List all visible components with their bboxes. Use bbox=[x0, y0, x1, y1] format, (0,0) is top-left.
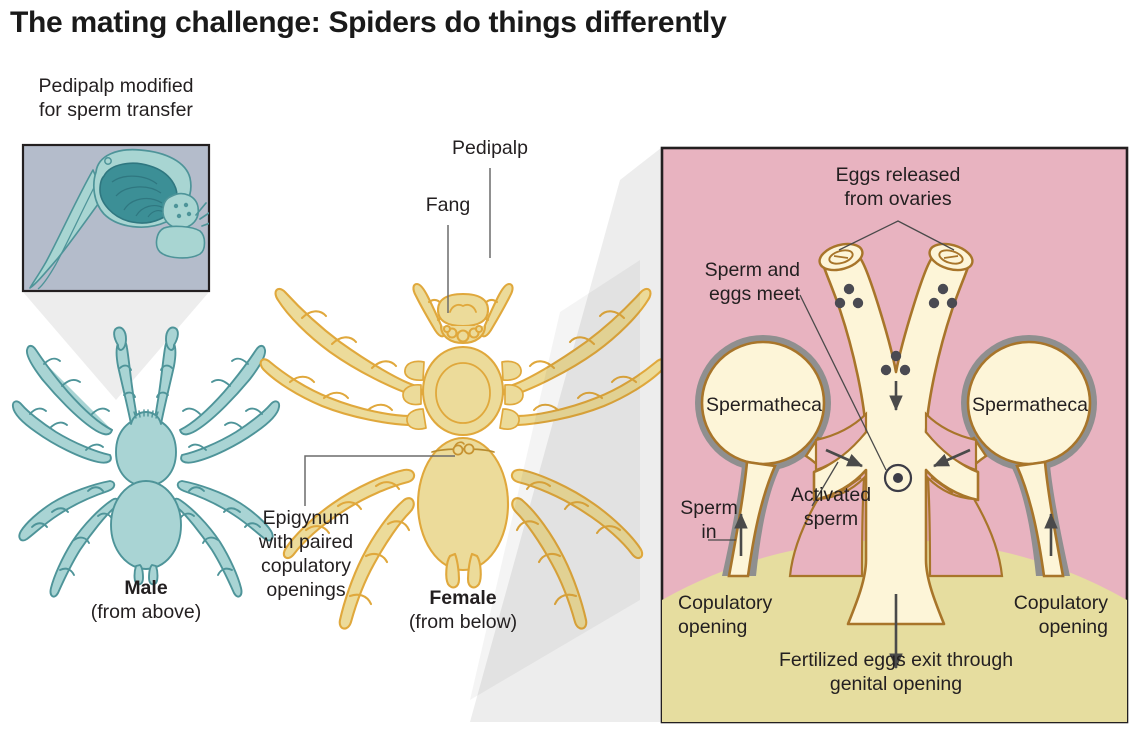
infographic-root: The mating challenge: Spiders do things … bbox=[0, 0, 1131, 729]
male-caption: Male (from above) bbox=[66, 576, 226, 624]
label-sperm-in: Sperm in bbox=[672, 496, 746, 544]
label-fang: Fang bbox=[404, 193, 492, 217]
label-spermatheca-right: Spermatheca bbox=[960, 393, 1100, 417]
label-copulatory-opening-right: Copulatory opening bbox=[958, 591, 1108, 639]
label-eggs-released: Eggs released from ovaries bbox=[806, 163, 990, 211]
label-sperm-eggs-meet: Sperm and eggs meet bbox=[666, 258, 800, 306]
pedipalp-inset-box bbox=[23, 145, 213, 291]
female-view: (from below) bbox=[409, 611, 517, 633]
male-spider-illustration bbox=[13, 328, 279, 597]
label-activated-sperm: Activated sperm bbox=[772, 483, 890, 531]
male-name: Male bbox=[66, 576, 226, 600]
female-caption: Female (from below) bbox=[383, 586, 543, 634]
label-fertilized-eggs-exit: Fertilized eggs exit through genital ope… bbox=[716, 648, 1076, 696]
male-view: (from above) bbox=[91, 601, 202, 623]
pedipalp-inset-caption: Pedipalp modified for sperm transfer bbox=[14, 74, 218, 122]
label-pedipalp: Pedipalp bbox=[440, 136, 540, 160]
label-copulatory-opening-left: Copulatory opening bbox=[678, 591, 828, 639]
label-spermatheca-left: Spermatheca bbox=[694, 393, 834, 417]
label-epigynum: Epigynum with paired copulatory openings bbox=[248, 506, 364, 602]
female-name: Female bbox=[383, 586, 543, 610]
